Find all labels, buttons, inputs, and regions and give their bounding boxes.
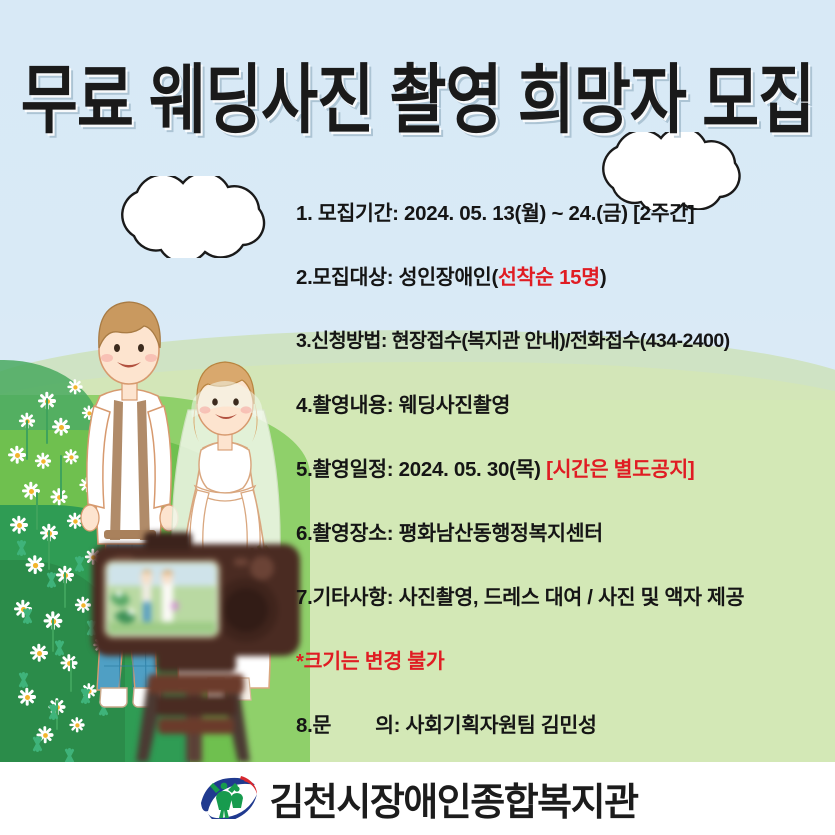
footer-organization-name: 김천시장애인종합복지관	[269, 771, 637, 826]
flower-stem	[60, 455, 62, 499]
info-item-7-text: 기타사항: 사진촬영, 드레스 대여 / 사진 및 액자 제공	[313, 586, 745, 609]
info-list: 1. 모집기간: 2024. 05. 13(월) ~ 24.(금) [2주간] …	[296, 196, 835, 730]
grass-blade	[14, 540, 28, 556]
contact-value: 사회기획자원팀 김민성	[400, 714, 596, 737]
info-item-2-text: 모집대상: 성인장애인(	[313, 266, 499, 289]
page-title: 무료 웨딩사진 촬영 희망자 모집	[0, 38, 835, 148]
info-item-3: 3.신청방법: 현장접수(복지관 안내)/전화접수(434-2400)	[296, 324, 835, 346]
contact-item: 8.문의: 사회기획자원팀 김민성	[296, 708, 835, 730]
footer-bar: 김천시장애인종합복지관	[0, 762, 835, 835]
flower-stem	[64, 572, 66, 608]
camera-illustration	[86, 528, 316, 763]
info-item-5-num: 5.	[296, 458, 313, 481]
contact-label-a: 문	[313, 714, 332, 737]
grass-blade	[46, 704, 60, 720]
daisy-flower	[8, 446, 26, 464]
info-item-7-num: 7.	[296, 586, 313, 609]
info-item-3-num: 3.	[296, 330, 311, 352]
info-item-4-text: 촬영내용: 웨딩사진촬영	[313, 394, 511, 417]
daisy-flower	[26, 556, 45, 575]
grass-blade	[16, 672, 30, 688]
grass-blade	[52, 640, 66, 656]
info-item-4: 4.촬영내용: 웨딩사진촬영	[296, 388, 835, 410]
info-item-1-text: 모집기간: 2024. 05. 13(월) ~ 24.(금) [2주간]	[313, 202, 695, 225]
info-item-1-num: 1.	[296, 202, 313, 225]
info-item-3-text: 신청방법: 현장접수(복지관 안내)/전화접수(434-2400)	[311, 330, 729, 352]
poster-canvas: 무료 웨딩사진 촬영 희망자 모집	[0, 0, 835, 835]
grass-blade	[30, 736, 44, 752]
info-item-5-highlight: [시간은 별도공지]	[546, 458, 694, 481]
info-item-6-text: 촬영장소: 평화남산동행정복지센터	[313, 522, 603, 545]
flower-stem	[48, 530, 50, 570]
contact-label-b: 의:	[375, 714, 400, 737]
info-item-6-num: 6.	[296, 522, 313, 545]
info-item-4-num: 4.	[296, 394, 313, 417]
flower-stem	[26, 420, 28, 460]
info-item-1: 1. 모집기간: 2024. 05. 13(월) ~ 24.(금) [2주간]	[296, 196, 835, 218]
flower-stem	[36, 492, 38, 530]
daisy-flower	[50, 488, 67, 505]
daisy-flower	[30, 644, 48, 662]
daisy-flower	[10, 516, 28, 534]
daisy-flower	[52, 418, 70, 436]
info-item-2-highlight: 선착순 15명	[498, 266, 600, 289]
info-item-2: 2.모집대상: 성인장애인(선착순 15명)	[296, 260, 835, 282]
info-item-2-tail: )	[600, 266, 607, 289]
daisy-flower	[18, 688, 36, 706]
size-note: *크기는 변경 불가	[296, 644, 835, 666]
grass-blade	[44, 572, 58, 588]
info-item-6: 6.촬영장소: 평화남산동행정복지센터	[296, 516, 835, 538]
info-item-7: 7.기타사항: 사진촬영, 드레스 대여 / 사진 및 액자 제공	[296, 580, 835, 602]
info-item-5: 5.촬영일정: 2024. 05. 30(목) [시간은 별도공지]	[296, 452, 835, 474]
daisy-flower	[35, 453, 51, 469]
info-item-5-text: 촬영일정: 2024. 05. 30(목)	[313, 458, 547, 481]
info-item-2-num: 2.	[296, 266, 313, 289]
contact-num: 8.	[296, 714, 313, 737]
grass-blade	[20, 608, 34, 624]
cloud-left-icon	[108, 176, 284, 258]
flower-stem	[46, 398, 48, 444]
kimcheon-welfare-logo-icon	[197, 773, 259, 824]
